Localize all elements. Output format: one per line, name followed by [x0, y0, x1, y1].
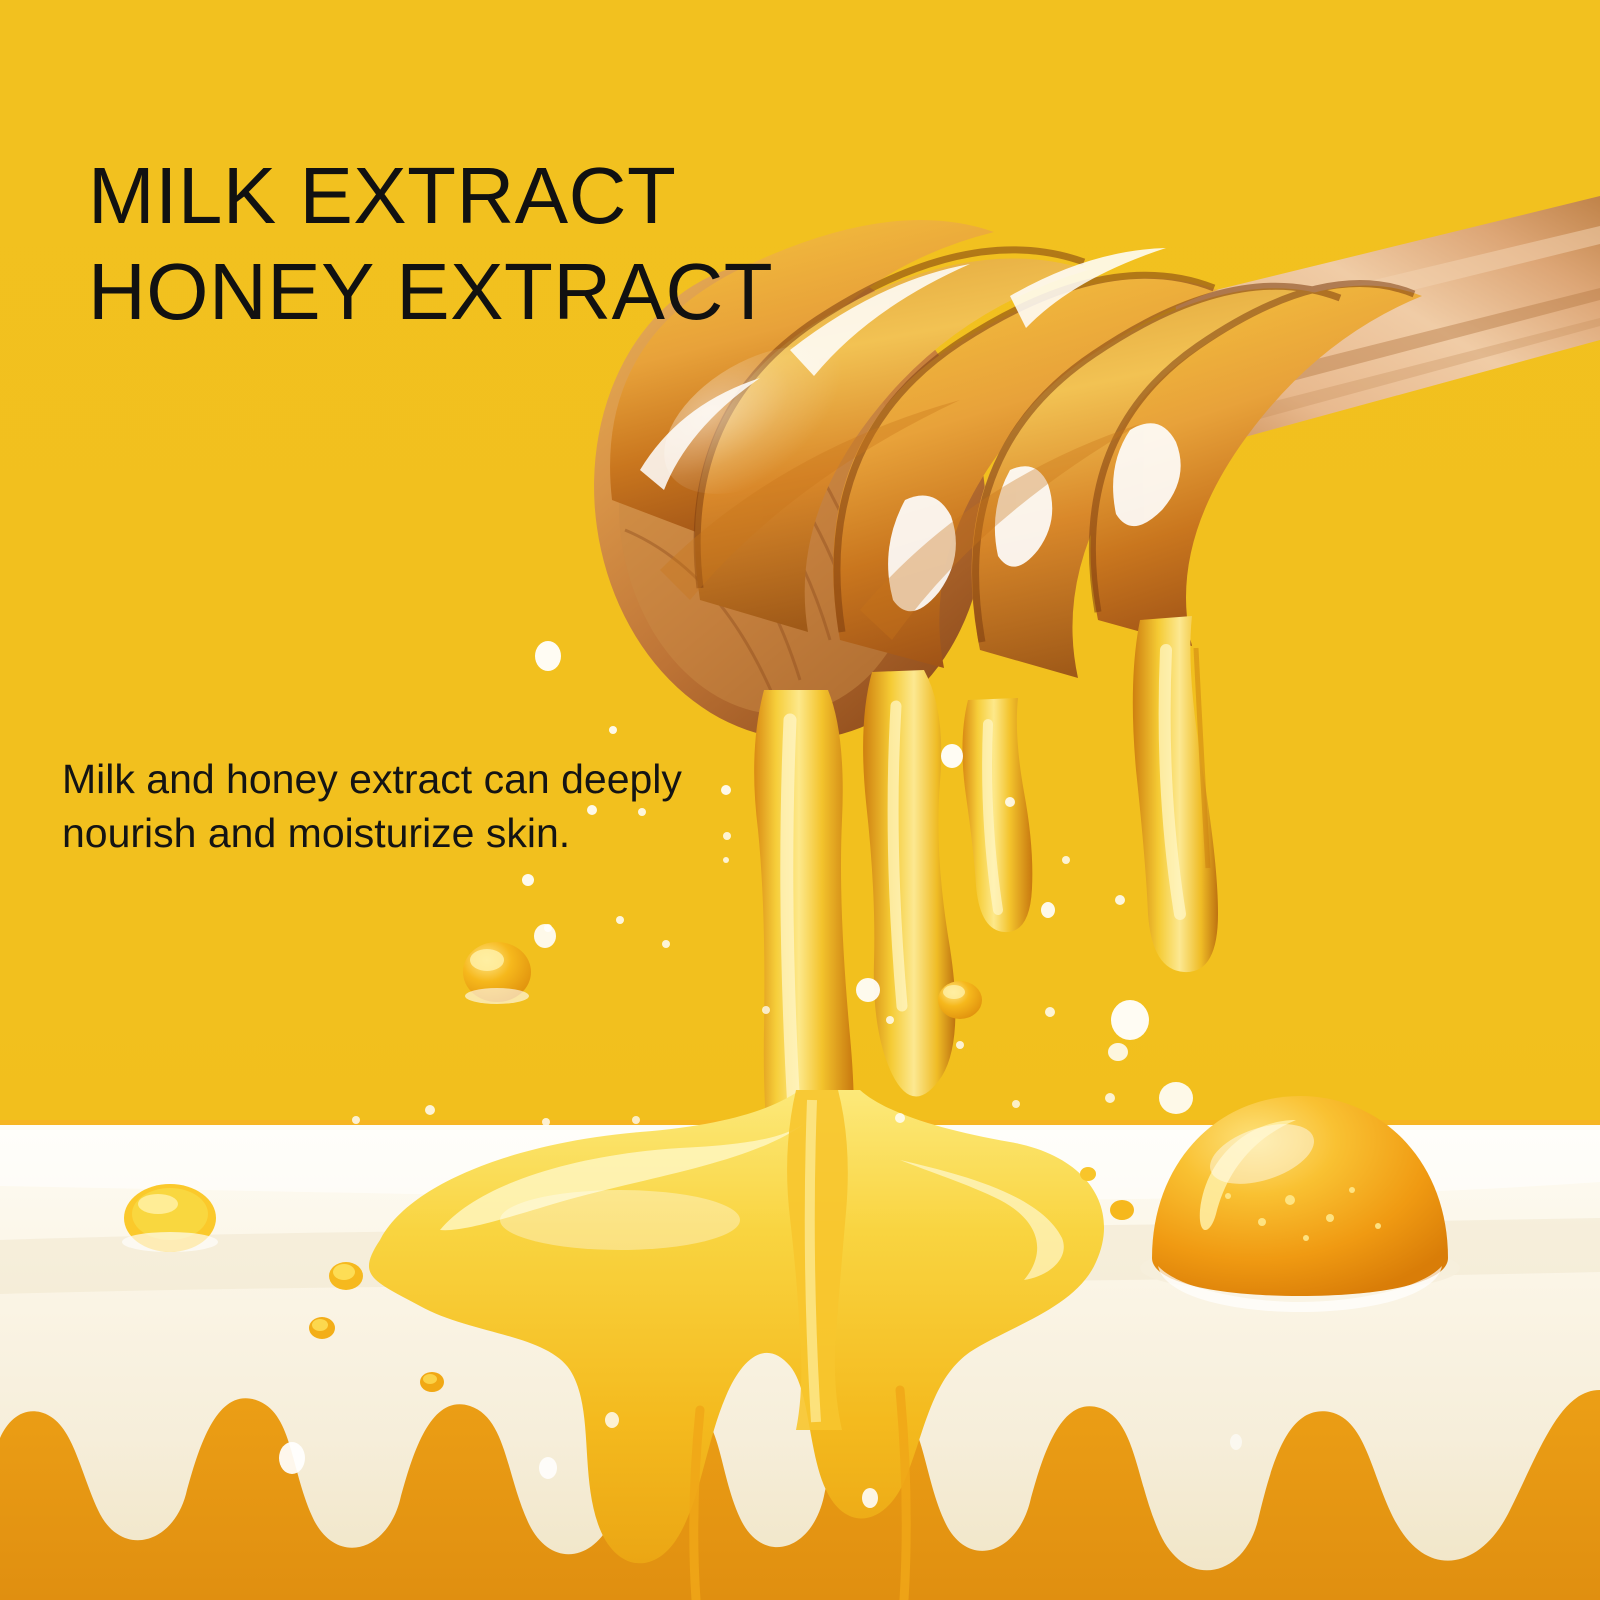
page-title: MILK EXTRACT HONEY EXTRACT	[88, 148, 773, 340]
body-description: Milk and honey extract can deeply nouris…	[62, 752, 822, 860]
product-feature-banner: MILK EXTRACT HONEY EXTRACT Milk and hone…	[0, 0, 1600, 1600]
honey-bubbles	[463, 942, 982, 1019]
